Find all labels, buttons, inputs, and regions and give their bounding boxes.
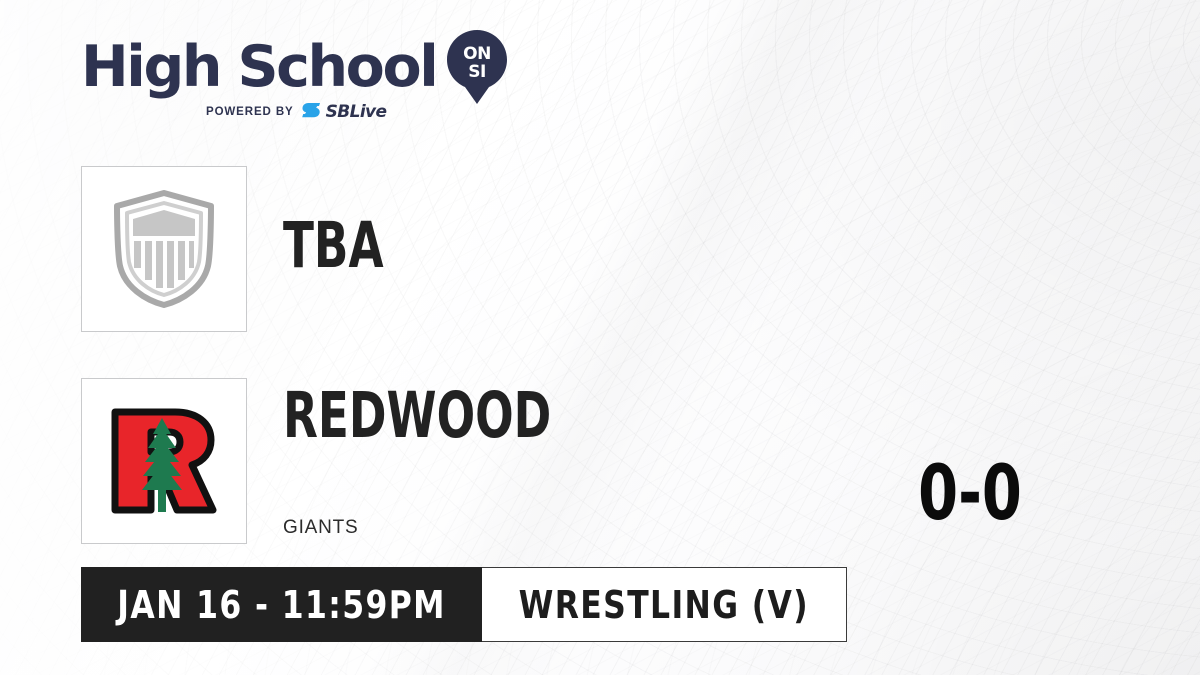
generic-shield-icon	[112, 190, 216, 308]
score-display: 0-0	[869, 443, 1071, 543]
home-team-logo-box	[81, 378, 247, 544]
home-team-text: REDWOOD GIANTS	[283, 378, 618, 537]
home-team-row: REDWOOD GIANTS	[81, 378, 618, 544]
away-team-logo-box	[81, 166, 247, 332]
game-sport-chip: WRESTLING (V)	[482, 567, 847, 642]
brand-header: High School ON SI POWERED BY SBLive	[81, 36, 511, 121]
svg-text:SI: SI	[469, 62, 487, 82]
home-team-mascot: GIANTS	[283, 518, 618, 537]
brand-title-row: High School ON SI	[81, 36, 511, 98]
sblive-bolt-icon	[302, 103, 322, 121]
sblive-logo: SBLive	[302, 103, 387, 121]
svg-text:ON: ON	[464, 44, 492, 64]
home-team-name: REDWOOD	[283, 384, 551, 447]
away-team-row: TBA	[81, 166, 409, 332]
away-team-name: TBA	[283, 214, 384, 277]
powered-by-label: POWERED BY	[206, 106, 294, 118]
game-matchup-card: High School ON SI POWERED BY SBLive	[0, 0, 1200, 675]
away-team-text: TBA	[283, 166, 409, 277]
on-si-pin-icon: ON SI	[446, 30, 508, 104]
game-datetime-chip: JAN 16 - 11:59PM	[81, 567, 482, 642]
redwood-r-tree-icon	[105, 406, 223, 516]
game-sport-label: WRESTLING (V)	[519, 586, 809, 624]
sblive-wordmark: SBLive	[326, 104, 387, 121]
powered-by-row: POWERED BY SBLive	[206, 103, 511, 121]
brand-title: High School	[81, 39, 436, 96]
game-datetime-label: JAN 16 - 11:59PM	[117, 586, 446, 624]
game-info-bar: JAN 16 - 11:59PM WRESTLING (V)	[81, 567, 847, 642]
